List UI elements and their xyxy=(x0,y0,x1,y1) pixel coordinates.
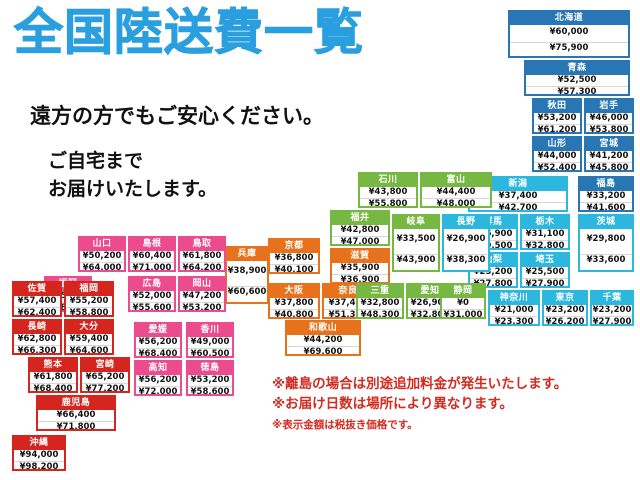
prefecture-name: 高知 xyxy=(136,362,180,375)
prefecture-fee-secondary: ¥43,900 xyxy=(394,254,438,266)
prefecture-fee-values: ¥21,000¥23,300 xyxy=(490,305,538,326)
prefecture-fee-secondary: ¥41,600 xyxy=(580,202,632,212)
subtitle-primary: 遠方の方でもご安心ください。 xyxy=(30,100,324,130)
prefecture-box: 静岡¥0¥31,000 xyxy=(440,283,486,319)
prefecture-fee-values: ¥44,200¥69,600 xyxy=(287,335,359,356)
prefecture-fee-primary: ¥31,100 xyxy=(522,229,568,240)
prefecture-fee-primary: ¥53,200 xyxy=(188,375,232,386)
prefecture-box: 茨城¥29,800¥33,600 xyxy=(578,214,634,272)
prefecture-fee-values: ¥31,100¥32,800 xyxy=(522,229,568,250)
page-title: 全国陸送費一覧 xyxy=(14,8,364,57)
prefecture-fee-values: ¥94,000¥98,200 xyxy=(14,450,64,471)
prefecture-fee-values: ¥44,400¥48,000 xyxy=(422,187,490,208)
prefecture-fee-secondary: ¥75,900 xyxy=(510,42,628,54)
prefecture-box: 栃木¥31,100¥32,800 xyxy=(520,214,570,250)
prefecture-name: 静岡 xyxy=(442,285,484,298)
prefecture-box: 山形¥44,000¥52,400 xyxy=(532,136,582,172)
prefecture-box: 佐賀¥57,400¥62,400 xyxy=(12,281,62,317)
prefecture-name: 石川 xyxy=(360,174,416,187)
prefecture-name: 北海道 xyxy=(510,12,628,25)
prefecture-box: 鹿児島¥66,400¥71,800 xyxy=(36,395,116,431)
prefecture-fee-secondary: ¥64,600 xyxy=(66,345,112,355)
prefecture-fee-secondary: ¥60,600 xyxy=(227,286,267,298)
prefecture-fee-primary: ¥43,800 xyxy=(360,187,416,198)
prefecture-name: 滋賀 xyxy=(332,250,388,263)
prefecture-name: 神奈川 xyxy=(490,292,538,305)
prefecture-box: 神奈川¥21,000¥23,300 xyxy=(488,290,540,326)
prefecture-fee-secondary: ¥71,000 xyxy=(130,262,174,272)
prefecture-fee-secondary: ¥48,300 xyxy=(358,309,402,319)
prefecture-box: 香川¥49,000¥60,500 xyxy=(186,322,234,358)
prefecture-name: 佐賀 xyxy=(14,283,60,296)
prefecture-name: 山形 xyxy=(534,138,580,151)
prefecture-name: 沖縄 xyxy=(14,437,64,450)
prefecture-box: 三重¥32,800¥48,300 xyxy=(356,283,404,319)
prefecture-fee-primary: ¥25,500 xyxy=(522,267,568,278)
prefecture-name: 熊本 xyxy=(30,359,76,372)
prefecture-fee-values: ¥32,800¥48,300 xyxy=(358,298,402,319)
prefecture-fee-values: ¥66,400¥71,800 xyxy=(38,410,114,431)
prefecture-name: 三重 xyxy=(358,285,402,298)
prefecture-fee-primary: ¥60,400 xyxy=(130,251,174,262)
prefecture-fee-secondary: ¥55,600 xyxy=(130,302,174,312)
prefecture-fee-primary: ¥23,200 xyxy=(592,305,632,316)
prefecture-fee-primary: ¥41,200 xyxy=(586,151,632,162)
prefecture-name: 栃木 xyxy=(522,216,568,229)
prefecture-fee-secondary: ¥52,400 xyxy=(534,162,580,172)
prefecture-box: 和歌山¥44,200¥69,600 xyxy=(285,320,361,356)
prefecture-name: 大分 xyxy=(66,321,112,334)
prefecture-fee-values: ¥50,200¥64,000 xyxy=(80,251,124,272)
prefecture-fee-values: ¥57,400¥62,400 xyxy=(14,296,60,317)
prefecture-box: 岡山¥47,200¥53,200 xyxy=(178,276,226,312)
prefecture-fee-values: ¥49,000¥60,500 xyxy=(188,337,232,358)
prefecture-fee-primary: ¥61,800 xyxy=(30,372,76,383)
prefecture-name: 東京 xyxy=(544,292,586,305)
prefecture-box: 京都¥36,800¥40,100 xyxy=(268,238,320,274)
prefecture-box: 福井¥42,800¥47,000 xyxy=(330,210,390,246)
prefecture-fee-primary: ¥61,800 xyxy=(180,251,224,262)
prefecture-fee-primary: ¥46,000 xyxy=(586,113,632,124)
prefecture-box: 富山¥44,400¥48,000 xyxy=(420,172,492,208)
prefecture-fee-values: ¥52,500¥57,300 xyxy=(526,75,628,96)
prefecture-name: 秋田 xyxy=(534,100,580,113)
prefecture-box: 千葉¥23,200¥27,900 xyxy=(590,290,634,326)
prefecture-fee-primary: ¥59,400 xyxy=(66,334,112,345)
prefecture-fee-secondary: ¥45,800 xyxy=(586,162,632,172)
note-remote-island: ※離島の場合は別途追加料金が発生いたします。 xyxy=(272,374,567,394)
prefecture-box: 熊本¥61,800¥68,400 xyxy=(28,357,78,393)
shipping-fee-infographic: 全国陸送費一覧 遠方の方でもご安心ください。 ご自宅まで お届けいたします。 北… xyxy=(0,0,640,480)
prefecture-fee-values: ¥55,200¥58,800 xyxy=(66,296,112,317)
prefecture-name: 福岡 xyxy=(66,283,112,296)
prefecture-fee-values: ¥59,400¥64,600 xyxy=(66,334,112,355)
prefecture-box: 岐阜¥33,500¥43,900 xyxy=(392,214,440,272)
prefecture-fee-values: ¥26,900¥38,300 xyxy=(444,229,488,270)
prefecture-fee-primary: ¥56,200 xyxy=(136,337,180,348)
prefecture-fee-values: ¥23,200¥26,200 xyxy=(544,305,586,326)
prefecture-name: 愛媛 xyxy=(136,324,180,337)
prefecture-name: 富山 xyxy=(422,174,490,187)
notes-block: ※離島の場合は別途追加料金が発生いたします。 ※お届け日数は場所により異なります… xyxy=(272,374,567,434)
prefecture-fee-primary: ¥57,400 xyxy=(14,296,60,307)
prefecture-fee-secondary: ¥64,200 xyxy=(180,262,224,272)
prefecture-fee-secondary: ¥69,600 xyxy=(287,346,359,356)
prefecture-box: 高知¥56,200¥72,000 xyxy=(134,360,182,396)
prefecture-fee-values: ¥29,800¥33,600 xyxy=(580,229,632,270)
prefecture-box: 兵庫¥38,900¥60,600 xyxy=(225,246,269,304)
prefecture-box: 宮崎¥65,200¥77,200 xyxy=(80,357,130,393)
prefecture-fee-secondary: ¥60,500 xyxy=(188,348,232,358)
prefecture-fee-primary: ¥0 xyxy=(442,298,484,309)
prefecture-box: 福岡¥55,200¥58,800 xyxy=(64,281,114,317)
prefecture-name: 大阪 xyxy=(270,285,318,298)
prefecture-fee-primary: ¥56,200 xyxy=(136,375,180,386)
note-delivery-days: ※お届け日数は場所により異なります。 xyxy=(272,394,567,414)
prefecture-fee-primary: ¥32,800 xyxy=(358,298,402,309)
prefecture-box: 島根¥60,400¥71,000 xyxy=(128,236,176,272)
prefecture-box: 岩手¥46,000¥53,800 xyxy=(584,98,634,134)
prefecture-fee-values: ¥0¥31,000 xyxy=(442,298,484,319)
prefecture-fee-primary: ¥42,800 xyxy=(332,225,388,236)
prefecture-fee-values: ¥44,000¥52,400 xyxy=(534,151,580,172)
prefecture-fee-values: ¥52,000¥55,600 xyxy=(130,291,174,312)
prefecture-fee-primary: ¥35,900 xyxy=(332,263,388,274)
prefecture-fee-primary: ¥47,200 xyxy=(180,291,224,302)
prefecture-fee-secondary: ¥33,600 xyxy=(580,254,632,266)
prefecture-fee-primary: ¥33,200 xyxy=(580,191,632,202)
prefecture-fee-primary: ¥44,400 xyxy=(422,187,490,198)
prefecture-fee-values: ¥60,400¥71,000 xyxy=(130,251,174,272)
prefecture-fee-primary: ¥29,800 xyxy=(580,234,632,245)
prefecture-fee-secondary: ¥23,300 xyxy=(490,316,538,326)
prefecture-box: 北海道¥60,000¥75,900 xyxy=(508,10,630,58)
prefecture-fee-primary: ¥23,200 xyxy=(544,305,586,316)
prefecture-fee-secondary: ¥55,800 xyxy=(360,198,416,208)
prefecture-name: 広島 xyxy=(130,278,174,291)
prefecture-name: 埼玉 xyxy=(522,254,568,267)
prefecture-box: 宮城¥41,200¥45,800 xyxy=(584,136,634,172)
prefecture-fee-values: ¥41,200¥45,800 xyxy=(586,151,632,172)
prefecture-fee-primary: ¥38,900 xyxy=(227,266,267,277)
prefecture-fee-secondary: ¥26,200 xyxy=(544,316,586,326)
prefecture-box: 広島¥52,000¥55,600 xyxy=(128,276,176,312)
prefecture-name: 山口 xyxy=(80,238,124,251)
prefecture-fee-values: ¥56,200¥68,400 xyxy=(136,337,180,358)
prefecture-name: 長崎 xyxy=(14,321,60,334)
prefecture-fee-values: ¥25,500¥27,900 xyxy=(522,267,568,288)
prefecture-name: 岩手 xyxy=(586,100,632,113)
prefecture-fee-values: ¥42,800¥47,000 xyxy=(332,225,388,246)
prefecture-fee-values: ¥47,200¥53,200 xyxy=(180,291,224,312)
prefecture-fee-secondary: ¥47,000 xyxy=(332,236,388,246)
prefecture-name: 宮崎 xyxy=(82,359,128,372)
prefecture-fee-secondary: ¥27,900 xyxy=(522,278,568,288)
prefecture-fee-secondary: ¥98,200 xyxy=(14,461,64,471)
prefecture-name: 千葉 xyxy=(592,292,632,305)
prefecture-fee-primary: ¥52,500 xyxy=(526,75,628,86)
prefecture-fee-values: ¥65,200¥77,200 xyxy=(82,372,128,393)
prefecture-fee-values: ¥36,800¥40,100 xyxy=(270,253,318,274)
prefecture-name: 岐阜 xyxy=(394,216,438,229)
prefecture-name: 長野 xyxy=(444,216,488,229)
prefecture-fee-primary: ¥36,800 xyxy=(270,253,318,264)
prefecture-box: 石川¥43,800¥55,800 xyxy=(358,172,418,208)
prefecture-name: 島根 xyxy=(130,238,174,251)
prefecture-name: 徳島 xyxy=(188,362,232,375)
prefecture-box: 大分¥59,400¥64,600 xyxy=(64,319,114,355)
prefecture-fee-secondary: ¥66,300 xyxy=(14,345,60,355)
prefecture-name: 和歌山 xyxy=(287,322,359,335)
prefecture-fee-primary: ¥37,800 xyxy=(270,298,318,309)
prefecture-fee-primary: ¥62,800 xyxy=(14,334,60,345)
prefecture-name: 福井 xyxy=(332,212,388,225)
prefecture-name: 福島 xyxy=(580,178,632,191)
prefecture-fee-secondary: ¥53,200 xyxy=(180,302,224,312)
prefecture-fee-secondary: ¥27,900 xyxy=(592,316,632,326)
prefecture-fee-primary: ¥66,400 xyxy=(38,410,114,421)
prefecture-box: 滋賀¥35,900¥36,900 xyxy=(330,248,390,284)
prefecture-name: 茨城 xyxy=(580,216,632,229)
prefecture-fee-secondary: ¥61,200 xyxy=(534,124,580,134)
prefecture-fee-primary: ¥50,200 xyxy=(80,251,124,262)
prefecture-box: 青森¥52,500¥57,300 xyxy=(524,60,630,96)
prefecture-fee-secondary: ¥72,000 xyxy=(136,386,180,396)
prefecture-fee-primary: ¥53,200 xyxy=(534,113,580,124)
prefecture-box: 長野¥26,900¥38,300 xyxy=(442,214,490,272)
prefecture-fee-secondary: ¥38,300 xyxy=(444,254,488,266)
prefecture-fee-values: ¥53,200¥61,200 xyxy=(534,113,580,134)
prefecture-name: 鳥取 xyxy=(180,238,224,251)
prefecture-name: 岡山 xyxy=(180,278,224,291)
prefecture-fee-values: ¥60,000¥75,900 xyxy=(510,25,628,56)
prefecture-fee-values: ¥61,800¥64,200 xyxy=(180,251,224,272)
prefecture-fee-secondary: ¥31,000 xyxy=(442,309,484,319)
prefecture-name: 宮城 xyxy=(586,138,632,151)
prefecture-fee-secondary: ¥58,600 xyxy=(188,386,232,396)
prefecture-fee-primary: ¥44,200 xyxy=(287,335,359,346)
prefecture-box: 沖縄¥94,000¥98,200 xyxy=(12,435,66,471)
prefecture-fee-values: ¥33,200¥41,600 xyxy=(580,191,632,212)
prefecture-fee-values: ¥62,800¥66,300 xyxy=(14,334,60,355)
prefecture-name: 青森 xyxy=(526,62,628,75)
prefecture-fee-primary: ¥33,500 xyxy=(394,234,438,245)
prefecture-fee-primary: ¥44,000 xyxy=(534,151,580,162)
subtitle-secondary: ご自宅まで お届けいたします。 xyxy=(48,148,217,203)
prefecture-box: 東京¥23,200¥26,200 xyxy=(542,290,588,326)
prefecture-fee-primary: ¥26,900 xyxy=(444,234,488,245)
prefecture-fee-values: ¥23,200¥27,900 xyxy=(592,305,632,326)
prefecture-name: 鹿児島 xyxy=(38,397,114,410)
prefecture-fee-secondary: ¥57,300 xyxy=(526,86,628,96)
prefecture-box: 福島¥33,200¥41,600 xyxy=(578,176,634,212)
prefecture-fee-values: ¥61,800¥68,400 xyxy=(30,372,76,393)
prefecture-fee-secondary: ¥77,200 xyxy=(82,383,128,393)
prefecture-fee-primary: ¥65,200 xyxy=(82,372,128,383)
prefecture-box: 鳥取¥61,800¥64,200 xyxy=(178,236,226,272)
prefecture-fee-values: ¥53,200¥58,600 xyxy=(188,375,232,396)
prefecture-box: 長崎¥62,800¥66,300 xyxy=(12,319,62,355)
prefecture-fee-secondary: ¥32,800 xyxy=(522,240,568,250)
prefecture-box: 徳島¥53,200¥58,600 xyxy=(186,360,234,396)
prefecture-name: 香川 xyxy=(188,324,232,337)
prefecture-fee-values: ¥33,500¥43,900 xyxy=(394,229,438,270)
prefecture-fee-primary: ¥49,000 xyxy=(188,337,232,348)
subtitle-secondary-line-2: お届けいたします。 xyxy=(48,176,217,204)
prefecture-fee-values: ¥56,200¥72,000 xyxy=(136,375,180,396)
prefecture-box: 山口¥50,200¥64,000 xyxy=(78,236,126,272)
prefecture-fee-secondary: ¥53,800 xyxy=(586,124,632,134)
prefecture-fee-values: ¥37,800¥40,800 xyxy=(270,298,318,319)
prefecture-fee-secondary: ¥40,100 xyxy=(270,264,318,274)
prefecture-fee-secondary: ¥58,800 xyxy=(66,307,112,317)
prefecture-box: 愛媛¥56,200¥68,400 xyxy=(134,322,182,358)
prefecture-fee-primary: ¥55,200 xyxy=(66,296,112,307)
prefecture-fee-secondary: ¥64,000 xyxy=(80,262,124,272)
prefecture-fee-secondary: ¥48,000 xyxy=(422,198,490,208)
subtitle-secondary-line-1: ご自宅まで xyxy=(48,148,217,176)
prefecture-fee-secondary: ¥68,400 xyxy=(136,348,180,358)
prefecture-box: 秋田¥53,200¥61,200 xyxy=(532,98,582,134)
prefecture-name: 京都 xyxy=(270,240,318,253)
prefecture-box: 大阪¥37,800¥40,800 xyxy=(268,283,320,319)
prefecture-fee-values: ¥43,800¥55,800 xyxy=(360,187,416,208)
prefecture-fee-secondary: ¥40,800 xyxy=(270,309,318,319)
prefecture-fee-secondary: ¥71,800 xyxy=(38,421,114,431)
prefecture-fee-primary: ¥60,000 xyxy=(510,27,628,38)
prefecture-fee-primary: ¥21,000 xyxy=(490,305,538,316)
note-tax-excluded: ※表示金額は税抜き価格です。 xyxy=(272,416,567,434)
prefecture-fee-primary: ¥94,000 xyxy=(14,450,64,461)
prefecture-fee-primary: ¥52,000 xyxy=(130,291,174,302)
prefecture-fee-secondary: ¥68,400 xyxy=(30,383,76,393)
prefecture-fee-values: ¥38,900¥60,600 xyxy=(227,261,267,302)
prefecture-box: 埼玉¥25,500¥27,900 xyxy=(520,252,570,288)
prefecture-name: 兵庫 xyxy=(227,248,267,261)
prefecture-fee-values: ¥46,000¥53,800 xyxy=(586,113,632,134)
prefecture-fee-secondary: ¥62,400 xyxy=(14,307,60,317)
prefecture-fee-values: ¥35,900¥36,900 xyxy=(332,263,388,284)
